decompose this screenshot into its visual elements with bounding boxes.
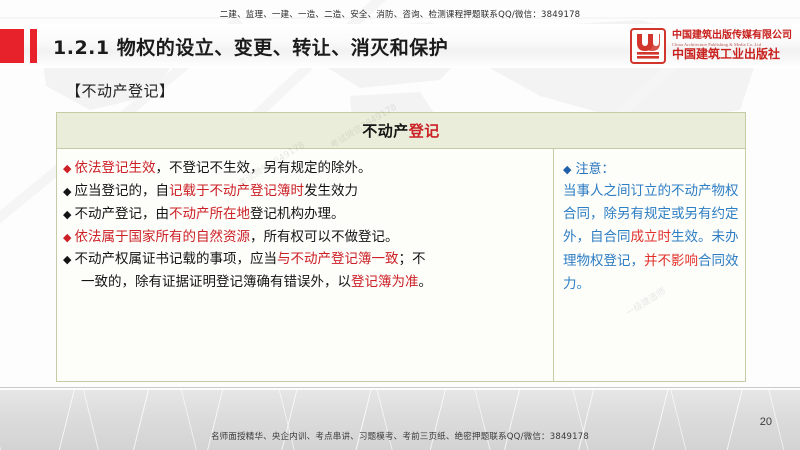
slide-canvas: 二建、监理、一建、一造、二造、安全、消防、咨询、检测课程押题联系QQ/微信：38… [0, 0, 800, 450]
page-title: 1.2.1 物权的设立、变更、转让、消灭和保护 [53, 33, 448, 60]
table-cell-note: ◆ 注意： 当事人之间订立的不动产物权合同，除另有规定或另有约定外，自合同成立时… [554, 149, 745, 381]
rule-text: 不动产权属证书记载的事项，应当与不动产登记簿一致；不 [74, 249, 547, 271]
note-heading: ◆ 注意： [563, 158, 739, 177]
text-segment: ；不 [398, 251, 425, 267]
diamond-bullet-icon: ◆ [63, 181, 71, 202]
note-segment: 并不影响 [644, 253, 698, 269]
text-segment: 。 [419, 274, 433, 290]
table-header-row: 不动产登记 [57, 113, 745, 149]
table-body: ◆依法登记生效，不登记不生效，另有规定的除外。◆应当登记的，自记载于不动产登记簿… [57, 149, 745, 381]
content-table: 不动产登记 ◆依法登记生效，不登记不生效，另有规定的除外。◆应当登记的，自记载于… [56, 112, 746, 382]
diamond-bullet-icon: ◆ [563, 163, 571, 176]
top-contact-banner: 二建、监理、一建、一造、二造、安全、消防、咨询、检测课程押题联系QQ/微信：38… [0, 8, 800, 20]
text-segment: ，所有权可以不做登记。 [250, 229, 399, 245]
horizon-line [0, 387, 800, 388]
title-accent-marks [0, 24, 37, 68]
table-header-plain: 不动产 [362, 122, 409, 140]
diamond-bullet-icon: ◆ [63, 204, 71, 225]
diamond-bullet-icon: ◆ [63, 249, 71, 270]
rule-text: 应当登记的，自记载于不动产登记簿时发生效力 [74, 181, 547, 203]
diamond-bullet-icon: ◆ [63, 227, 71, 248]
rule-text: 依法登记生效，不登记不生效，另有规定的除外。 [74, 158, 547, 180]
publisher-emblem-icon [630, 28, 666, 64]
publisher-press-cn: 中国建筑工业出版社 [672, 48, 792, 61]
text-segment: 依法登记生效 [74, 160, 155, 176]
table-cell-main-rules: ◆依法登记生效，不登记不生效，另有规定的除外。◆应当登记的，自记载于不动产登记簿… [57, 149, 554, 381]
note-text: 当事人之间订立的不动产物权合同，除另有规定或另有约定外，自合同成立时生效。未办理… [563, 180, 739, 296]
note-segment: 成立时 [631, 229, 672, 245]
text-segment: 与不动产登记簿一致 [277, 251, 399, 267]
text-segment: 登记机构办理。 [250, 206, 345, 222]
page-number: 20 [760, 416, 772, 428]
footer-contact-text: 名师面授精华、央企内训、考点串讲、习题模考、考前三页纸、绝密押题联系QQ/微信：… [0, 430, 800, 442]
rule-text: 不动产登记，由不动产所在地登记机构办理。 [74, 204, 547, 226]
publisher-company-cn: 中国建筑出版传媒有限公司 [672, 31, 792, 42]
table-header-title: 不动产登记 [362, 120, 440, 141]
text-segment: 登记簿为准 [351, 274, 419, 290]
rule-item: ◆依法登记生效，不登记不生效，另有规定的除外。 [63, 158, 547, 180]
rule-text: 一致的，除有证据证明登记簿确有错误外，以登记簿为准。 [81, 272, 547, 294]
rule-item-continuation: 一致的，除有证据证明登记簿确有错误外，以登记簿为准。 [63, 272, 547, 294]
section-subtitle: 【不动产登记】 [66, 80, 175, 101]
accent-bar-large [0, 29, 24, 63]
text-segment: 记载于不动产登记簿时 [169, 183, 304, 199]
rule-text: 依法属于国家所有的自然资源，所有权可以不做登记。 [74, 227, 547, 249]
rule-item: ◆不动产权属证书记载的事项，应当与不动产登记簿一致；不 [63, 249, 547, 271]
diamond-bullet-icon: ◆ [63, 158, 71, 179]
rule-item: ◆不动产登记，由不动产所在地登记机构办理。 [63, 204, 547, 226]
text-segment: ，不登记不生效，另有规定的除外。 [155, 160, 371, 176]
note-label: 注意： [575, 158, 614, 177]
text-segment: 一致的，除有证据证明登记簿确有错误外，以 [81, 274, 351, 290]
rule-item: ◆依法属于国家所有的自然资源，所有权可以不做登记。 [63, 227, 547, 249]
text-segment: 不动产所在地 [169, 206, 250, 222]
text-segment: 发生效力 [304, 183, 358, 199]
accent-bar-small [30, 29, 37, 63]
text-segment: 依法属于国家所有的自然资源 [74, 229, 250, 245]
text-segment: 不动产登记，由 [74, 206, 169, 222]
rule-item: ◆应当登记的，自记载于不动产登记簿时发生效力 [63, 181, 547, 203]
publisher-logo: 中国建筑出版传媒有限公司 China Architecture Publishi… [630, 28, 792, 64]
table-header-highlight: 登记 [409, 122, 440, 140]
rules-list: ◆依法登记生效，不登记不生效，另有规定的除外。◆应当登记的，自记载于不动产登记簿… [63, 158, 547, 294]
publisher-wordmark: 中国建筑出版传媒有限公司 China Architecture Publishi… [672, 31, 792, 61]
text-segment: 不动产权属证书记载的事项，应当 [74, 251, 277, 267]
text-segment: 应当登记的，自 [74, 183, 169, 199]
